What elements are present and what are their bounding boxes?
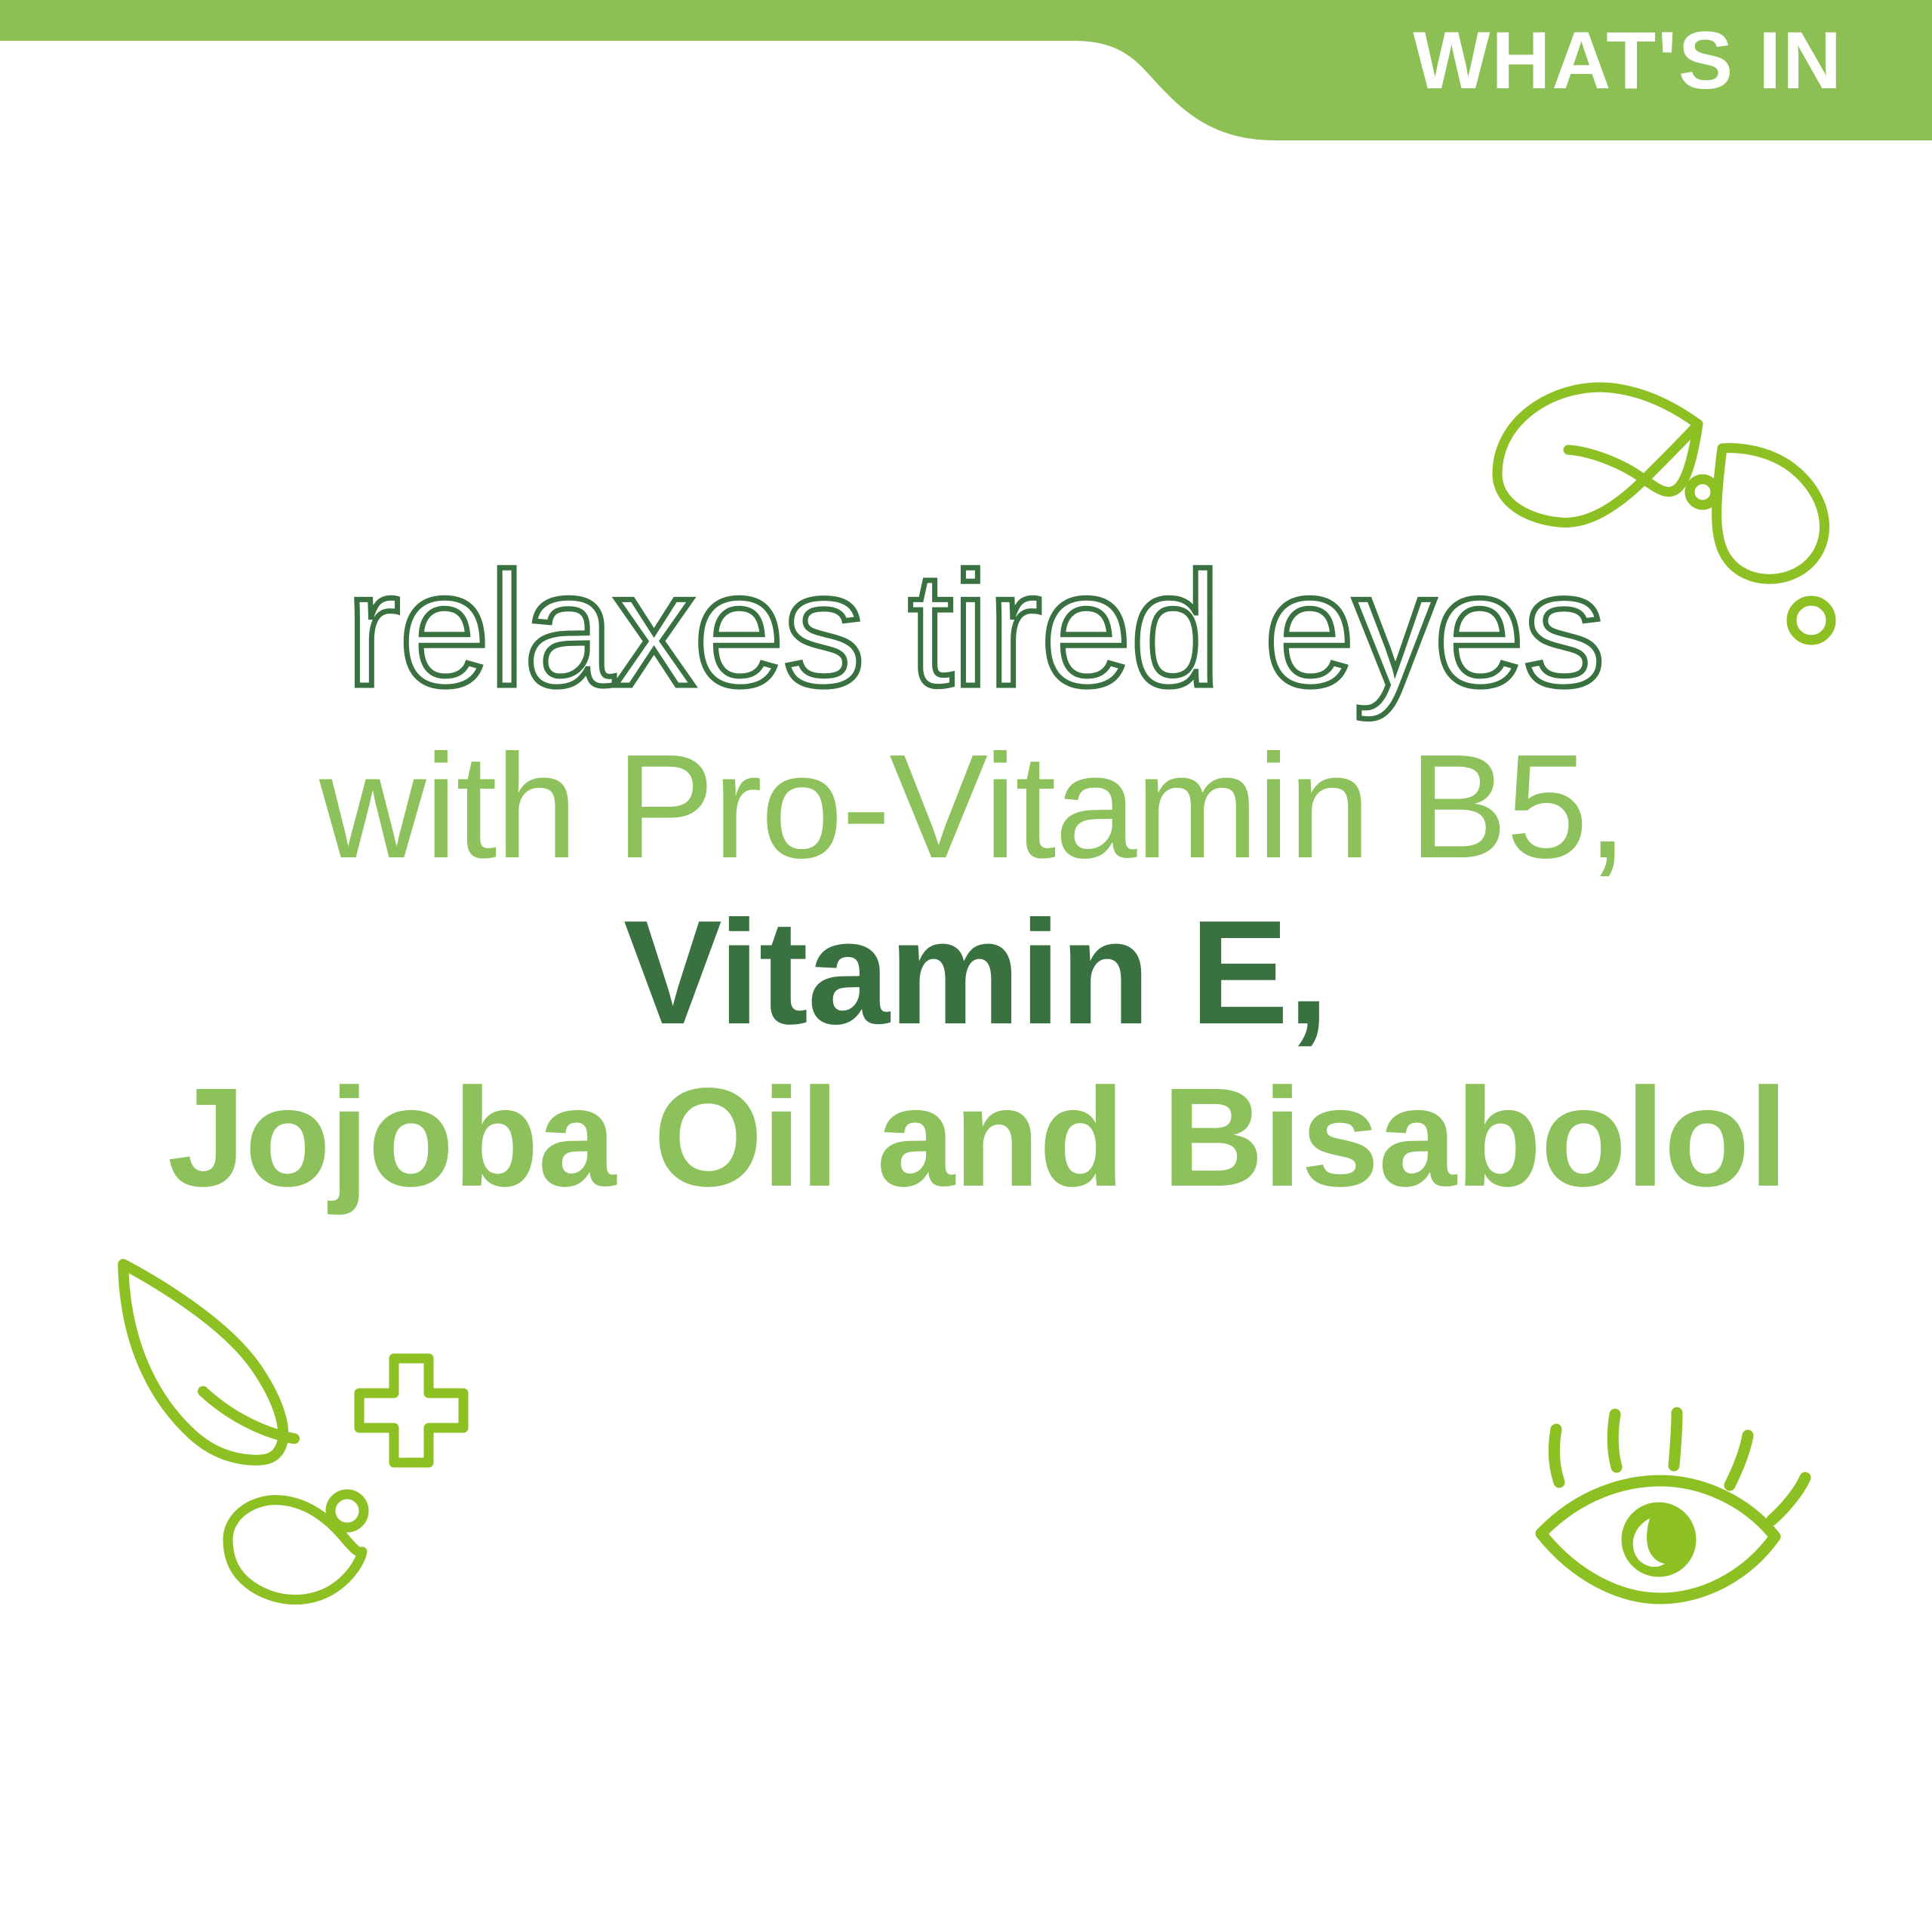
decoration-cluster-bottom-left xyxy=(91,1253,513,1634)
leaf-vein-icon xyxy=(203,1392,294,1439)
plus-cross-icon xyxy=(359,1358,463,1463)
decoration-cluster-eye xyxy=(1509,1389,1826,1657)
small-circle-icon xyxy=(1690,479,1715,505)
droplet-sideways-icon xyxy=(228,1500,362,1600)
leaf-icon xyxy=(1497,387,1698,522)
headline-line-relaxes-tired-eyes: relaxes tired eyes xyxy=(0,548,1932,710)
eyelash-icon xyxy=(1674,1413,1677,1466)
headline-line-vitamin-e: Vitamin E, xyxy=(0,899,1932,1047)
banner-title: WHAT'S IN xyxy=(1413,20,1843,101)
eyelash-icon xyxy=(1772,1478,1805,1520)
eye-outline-icon xyxy=(1541,1481,1775,1598)
eye-iris-icon xyxy=(1627,1508,1690,1571)
headline-line-pro-vitamin-b5: with Pro-Vitamin B5, xyxy=(0,733,1932,881)
headline-line-jojoba-oil-and-bisabolol: Jojoba Oil and Bisabolol xyxy=(0,1068,1932,1208)
eyelash-icon xyxy=(1613,1414,1617,1467)
small-circle-icon xyxy=(331,1494,364,1527)
eyelash-icon xyxy=(1554,1429,1559,1482)
leaf-vein-icon xyxy=(1568,424,1698,492)
leaf-icon xyxy=(123,1264,283,1460)
headline-block: relaxes tired eyes with Pro-Vitamin B5, … xyxy=(0,548,1932,1208)
eye-highlight-icon xyxy=(1633,1518,1665,1567)
eyelash-icon xyxy=(1730,1435,1748,1485)
